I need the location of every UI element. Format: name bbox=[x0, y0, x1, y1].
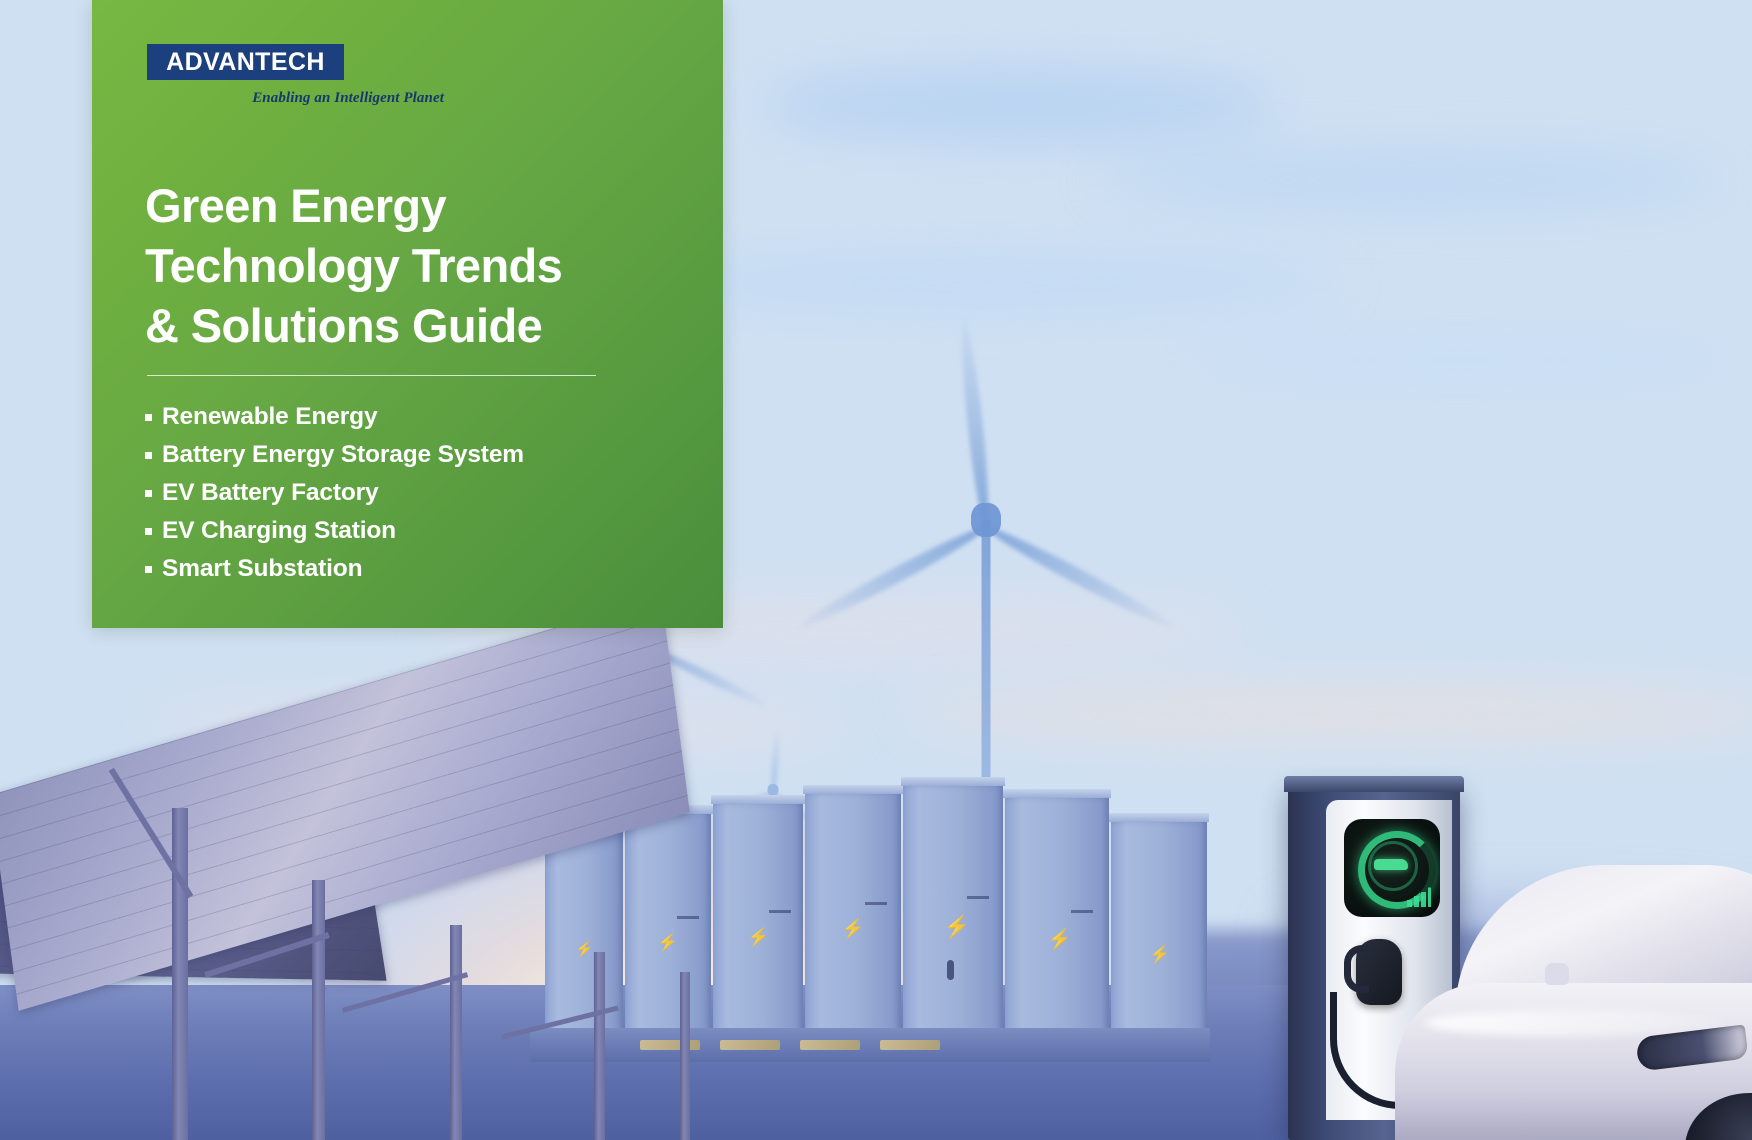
logo-wordmark: ADVANTECH bbox=[166, 50, 325, 75]
square-bullet-icon bbox=[145, 452, 152, 459]
battery-storage-cabinet: ⚡ bbox=[805, 792, 901, 1042]
cloud-streak bbox=[900, 690, 1752, 738]
brochure-cover-page: ⚡ ⚡ ⚡ ⚡ ⚡ bbox=[0, 0, 1752, 1140]
solar-mount-post bbox=[172, 808, 188, 1140]
solar-mount-post bbox=[312, 880, 325, 1140]
cloud-streak bbox=[1100, 150, 1720, 210]
lightning-bolt-icon: ⚡ bbox=[943, 916, 970, 938]
cloud-streak bbox=[640, 250, 1340, 316]
list-item[interactable]: Battery Energy Storage System bbox=[145, 436, 524, 474]
cabinet-door-handle bbox=[947, 960, 954, 980]
title-line-2: Technology Trends bbox=[145, 236, 685, 296]
list-item[interactable]: EV Battery Factory bbox=[145, 474, 524, 512]
logo-tagline: Enabling an Intelligent Planet bbox=[147, 90, 444, 107]
cabinet-cap bbox=[803, 785, 903, 794]
cabinet-vent-slot bbox=[1071, 910, 1093, 913]
topic-label: EV Battery Factory bbox=[162, 479, 379, 507]
battery-storage-cabinet: ⚡ bbox=[903, 784, 1003, 1042]
topic-label: Renewable Energy bbox=[162, 403, 377, 431]
topic-label: Battery Energy Storage System bbox=[162, 441, 524, 469]
title-panel: ADVANTECH Enabling an Intelligent Planet… bbox=[92, 0, 723, 628]
topic-list: Renewable Energy Battery Energy Storage … bbox=[145, 398, 524, 588]
electric-car bbox=[1395, 865, 1752, 1140]
battery-storage-cabinet: ⚡ bbox=[1111, 820, 1207, 1042]
lightning-bolt-icon: ⚡ bbox=[1047, 930, 1072, 950]
cabinet-vent-slot bbox=[967, 896, 989, 899]
solar-mount-post bbox=[450, 925, 462, 1140]
charger-top-cap bbox=[1284, 776, 1464, 792]
cloud-streak bbox=[760, 70, 1280, 140]
turbine-hub bbox=[971, 503, 1001, 537]
cabinet-cap bbox=[901, 777, 1005, 786]
title-line-3: & Solutions Guide bbox=[145, 296, 685, 356]
list-item[interactable]: EV Charging Station bbox=[145, 512, 524, 550]
topic-label: Smart Substation bbox=[162, 555, 362, 583]
title-divider bbox=[147, 375, 596, 376]
page-title: Green Energy Technology Trends & Solutio… bbox=[145, 176, 685, 356]
advantech-logo[interactable]: ADVANTECH Enabling an Intelligent Planet bbox=[147, 44, 487, 107]
square-bullet-icon bbox=[145, 414, 152, 421]
topic-label: EV Charging Station bbox=[162, 517, 396, 545]
square-bullet-icon bbox=[145, 528, 152, 535]
plinth-vent bbox=[880, 1040, 940, 1050]
solar-mount-post bbox=[680, 972, 690, 1140]
lightning-bolt-icon: ⚡ bbox=[1149, 946, 1170, 963]
solar-panel-array bbox=[0, 690, 810, 1140]
square-bullet-icon bbox=[145, 566, 152, 573]
list-item[interactable]: Renewable Energy bbox=[145, 398, 524, 436]
lightning-bolt-icon: ⚡ bbox=[841, 920, 865, 939]
cabinet-vent-slot bbox=[865, 902, 887, 905]
logo-badge: ADVANTECH bbox=[147, 44, 344, 80]
battery-storage-cabinet: ⚡ bbox=[1005, 796, 1109, 1042]
cabinet-cap bbox=[1003, 789, 1111, 798]
square-bullet-icon bbox=[145, 490, 152, 497]
list-item[interactable]: Smart Substation bbox=[145, 550, 524, 588]
solar-mount-post bbox=[594, 952, 605, 1140]
cabinet-cap bbox=[1109, 813, 1209, 822]
cloud-streak bbox=[1180, 330, 1740, 390]
car-side-mirror bbox=[1545, 963, 1569, 985]
document-title: Green Energy Technology Trends & Solutio… bbox=[145, 176, 685, 356]
title-line-1: Green Energy bbox=[145, 176, 685, 236]
